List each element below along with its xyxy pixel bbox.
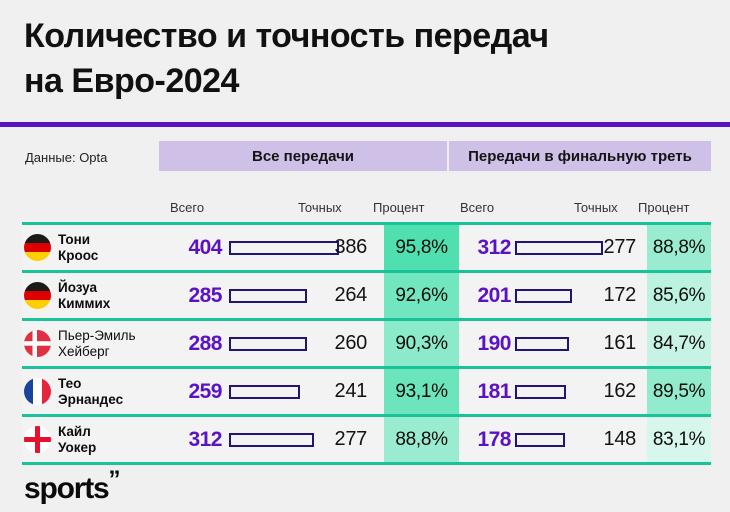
player-name-line-1: Тео [58,376,178,392]
player-name-line-2: Хейберг [58,344,178,360]
sports-logo-mark: ” [109,466,118,493]
column-group-final-third: Передачи в финальную треть [449,141,711,171]
subheader-all-percent: Процент [373,200,424,215]
player-name: ТониКроос [58,225,178,270]
final-total-bar-fill [515,337,569,351]
all-accurate-value: 260 [305,321,367,366]
column-group-final-third-label: Передачи в финальную треть [468,148,692,165]
player-name-line-1: Тони [58,232,178,248]
subheader-all-accurate: Точных [298,200,342,215]
purple-divider [0,122,730,127]
player-name: ЙозуаКиммих [58,273,178,318]
final-total-value: 190 [459,321,511,366]
all-percent-cell: 90,3% [384,321,459,366]
all-percent-cell: 95,8% [384,225,459,270]
all-total-bar [229,417,314,462]
player-name-line-2: Уокер [58,440,178,456]
final-accurate-value: 172 [574,273,636,318]
table-row[interactable]: 93,1%89,5%ТеоЭрнандес259241181162 [22,369,711,414]
player-name: ТеоЭрнандес [58,369,178,414]
all-total-bar-fill [229,289,307,303]
final-percent-cell: 88,8% [647,225,711,270]
subheader-final-percent: Процент [638,200,689,215]
all-total-value: 288 [170,321,222,366]
all-total-value: 259 [170,369,222,414]
final-accurate-value: 162 [574,369,636,414]
all-accurate-value: 386 [305,225,367,270]
final-percent-cell: 85,6% [647,273,711,318]
all-total-bar [229,273,307,318]
england-flag-icon [24,426,51,453]
all-total-value: 404 [170,225,222,270]
all-accurate-value: 241 [305,369,367,414]
subheader-final-accurate: Точных [574,200,618,215]
final-total-value: 201 [459,273,511,318]
germany-flag-icon [24,282,51,309]
player-name-line-2: Кроос [58,248,178,264]
table-row[interactable]: 95,8%88,8%ТониКроос404386312277 [22,225,711,270]
player-name-line-2: Эрнандес [58,392,178,408]
data-source-label: Данные: Opta [25,150,107,165]
all-percent-cell: 93,1% [384,369,459,414]
player-name: КайлУокер [58,417,178,462]
table-row[interactable]: 88,8%83,1%КайлУокер312277178148 [22,417,711,462]
final-percent-cell: 84,7% [647,321,711,366]
denmark-flag-icon [24,330,51,357]
final-total-bar [515,321,569,366]
final-total-bar-fill [515,385,566,399]
infographic-root: Количество и точность передач на Евро-20… [0,0,730,512]
player-name-line-2: Киммих [58,296,178,312]
sports-logo-text: sports [24,472,109,505]
player-name-line-1: Кайл [58,424,178,440]
page-title: Количество и точность передач на Евро-20… [24,14,714,104]
all-total-bar [229,369,300,414]
subheader-all-total: Всего [170,200,204,215]
all-total-bar-fill [229,385,300,399]
all-total-bar-fill [229,337,307,351]
final-accurate-value: 161 [574,321,636,366]
final-total-value: 178 [459,417,511,462]
final-total-bar [515,369,566,414]
final-percent-cell: 83,1% [647,417,711,462]
final-total-bar [515,417,565,462]
final-accurate-value: 148 [574,417,636,462]
passes-table: 95,8%88,8%ТониКроос40438631227792,6%85,6… [22,222,711,465]
all-accurate-value: 277 [305,417,367,462]
table-bottom-rule [22,462,711,465]
germany-flag-icon [24,234,51,261]
all-accurate-value: 264 [305,273,367,318]
player-name-line-1: Пьер-Эмиль [58,328,178,344]
final-total-bar [515,273,572,318]
player-name-line-1: Йозуа [58,280,178,296]
final-accurate-value: 277 [574,225,636,270]
column-group-all-passes-label: Все передачи [252,148,354,165]
final-percent-cell: 89,5% [647,369,711,414]
final-total-value: 312 [459,225,511,270]
player-name: Пьер-ЭмильХейберг [58,321,178,366]
all-total-value: 312 [170,417,222,462]
title-line-1: Количество и точность передач [24,14,714,59]
column-group-all-passes: Все передачи [159,141,447,171]
table-row[interactable]: 90,3%84,7%Пьер-ЭмильХейберг288260190161 [22,321,711,366]
all-percent-cell: 88,8% [384,417,459,462]
all-percent-cell: 92,6% [384,273,459,318]
final-total-value: 181 [459,369,511,414]
sports-logo: sports” [24,466,118,506]
all-total-bar [229,321,307,366]
subheader-final-total: Всего [460,200,494,215]
final-total-bar-fill [515,433,565,447]
title-line-2: на Евро-2024 [24,59,714,104]
france-flag-icon [24,378,51,405]
all-total-value: 285 [170,273,222,318]
final-total-bar-fill [515,289,572,303]
all-total-bar-fill [229,433,314,447]
table-row[interactable]: 92,6%85,6%ЙозуаКиммих285264201172 [22,273,711,318]
